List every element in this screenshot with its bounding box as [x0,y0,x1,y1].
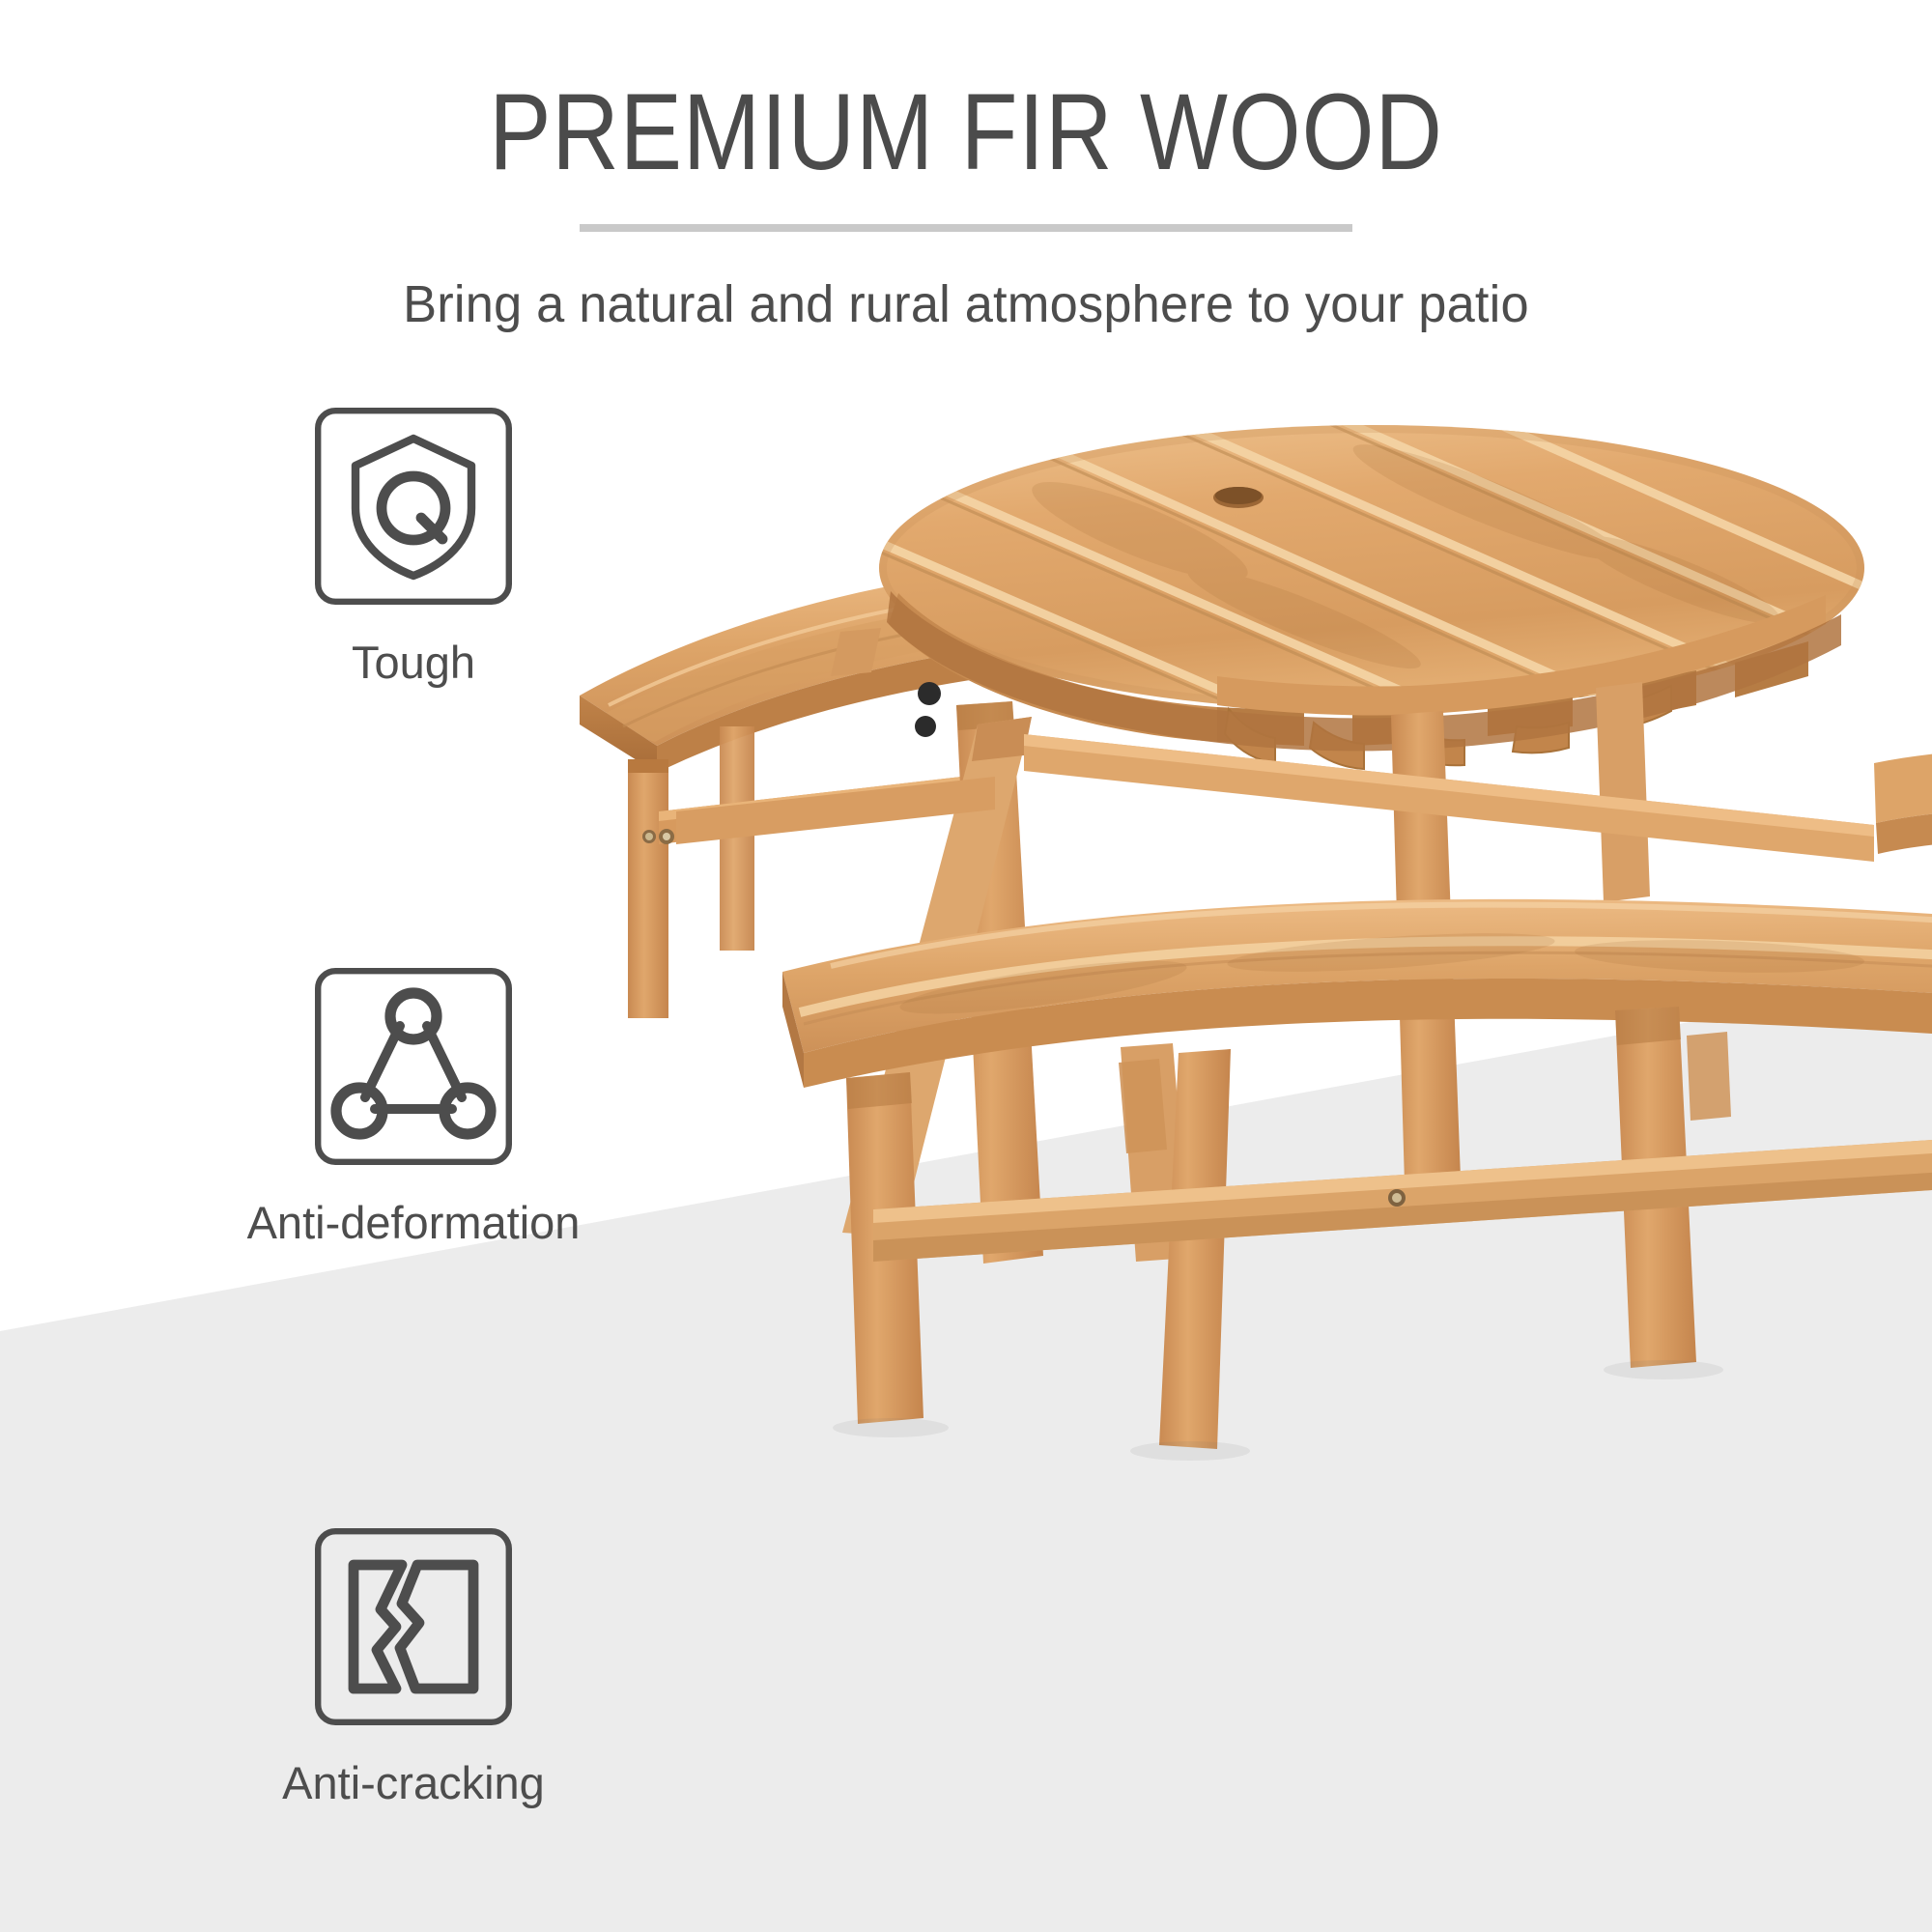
feature-item-tough: Tough [0,406,831,686]
product-feature-banner: PREMIUM FIR WOOD Bring a natural and rur… [0,0,1932,1932]
page-title: PREMIUM FIR WOOD [135,0,1797,189]
feature-label: Anti-cracking [0,1756,827,1809]
feature-item-anti-cracking: Anti-cracking [0,1526,831,1806]
shield-quality-icon [313,406,514,607]
feature-label: Tough [0,636,827,689]
page-subtitle: Bring a natural and rural atmosphere to … [29,232,1903,334]
feature-list: Tough Anti-deformation [0,406,831,1806]
feature-item-anti-deformation: Anti-deformation [0,966,831,1246]
ground-shadow [833,1360,1723,1461]
front-bench [782,899,1932,1449]
umbrella-hole [1213,487,1264,508]
title-divider [580,224,1352,232]
right-bench-edge [1874,752,1932,854]
feature-label: Anti-deformation [0,1196,827,1249]
header: PREMIUM FIR WOOD Bring a natural and rur… [0,0,1932,334]
cracked-panel-icon [313,1526,514,1727]
triangle-nodes-icon [313,966,514,1167]
